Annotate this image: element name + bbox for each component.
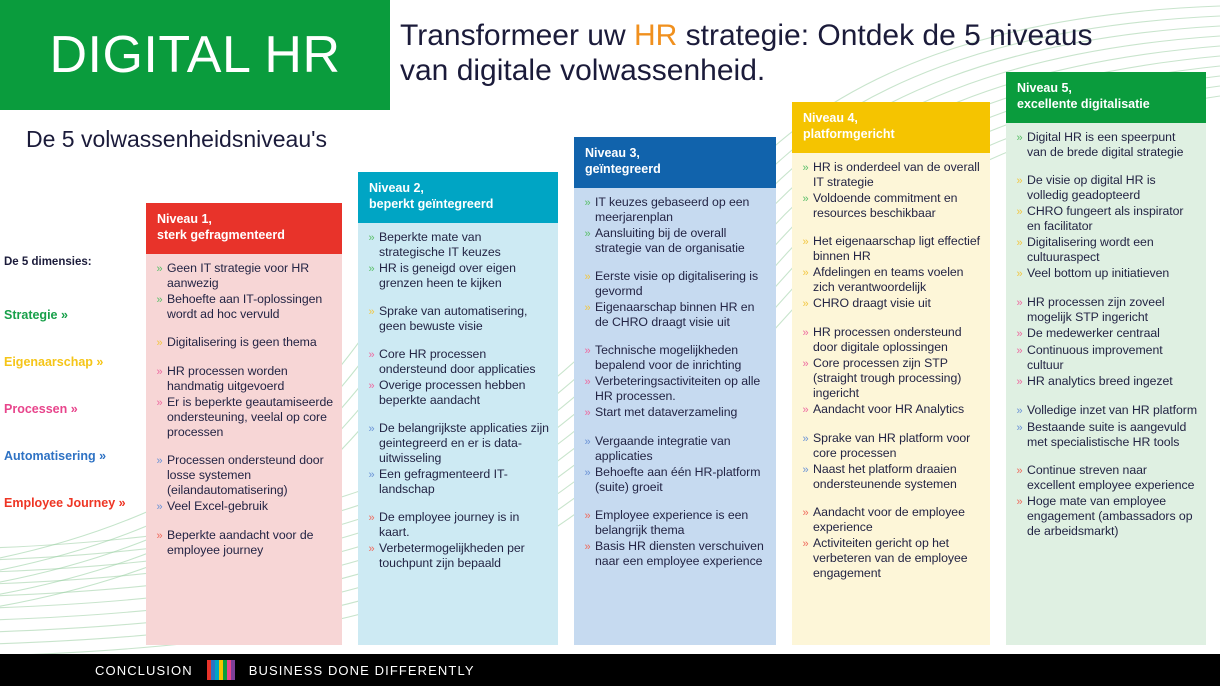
bullet-item: »Geen IT strategie voor HR aanwezig [152, 261, 334, 291]
bullet-item: »De visie op digital HR is volledig gead… [1012, 173, 1198, 203]
bullet-item: »Eerste visie op digitalisering is gevor… [580, 269, 768, 299]
level-column-1[interactable]: Niveau 1,sterk gefragmenteerd»Geen IT st… [146, 203, 342, 645]
bullet-text: Aansluiting bij de overall strategie van… [595, 226, 768, 256]
dimension-group-automatisering: »De belangrijkste applicaties zijn geint… [364, 421, 550, 497]
bullet-item: »Continuous improvement cultuur [1012, 343, 1198, 373]
chevron-double-right-icon: » [1012, 130, 1027, 146]
bullet-item: »Digitalisering is geen thema [152, 335, 334, 351]
chevron-double-right-icon: » [152, 335, 167, 351]
chevron-double-right-icon: » [1012, 463, 1027, 479]
bullet-text: Beperkte mate van strategische IT keuzes [379, 230, 550, 260]
bullet-text: Technische mogelijkheden bepalend voor d… [595, 343, 768, 373]
bullet-item: »Continue streven naar excellent employe… [1012, 463, 1198, 493]
bullet-text: HR processen ondersteund door digitale o… [813, 325, 982, 355]
bullet-text: Overige processen hebben beperkte aandac… [379, 378, 550, 408]
dimension-label-2[interactable]: Eigenaarschap » [4, 355, 152, 402]
bullet-text: Eerste visie op digitalisering is gevorm… [595, 269, 768, 299]
dimension-group-processen: »Core HR processen ondersteund door appl… [364, 347, 550, 408]
chevron-double-right-icon: » [364, 347, 379, 363]
bullet-item: »Het eigenaarschap ligt effectief binnen… [798, 234, 982, 264]
bullet-text: IT keuzes gebaseerd op een meerjarenplan [595, 195, 768, 225]
bullet-text: HR is geneigd over eigen grenzen heen te… [379, 261, 550, 291]
chevron-double-right-icon: » [580, 269, 595, 285]
chevron-double-right-icon: » [364, 261, 379, 277]
bullet-item: »De medewerker centraal [1012, 326, 1198, 342]
bullet-text: Verbetermogelijkheden per touchpunt zijn… [379, 541, 550, 571]
bullet-text: Employee experience is een belangrijk th… [595, 508, 768, 538]
bullet-text: Activiteiten gericht op het verbeteren v… [813, 536, 982, 581]
bullet-text: Sprake van HR platform voor core process… [813, 431, 982, 461]
chevron-double-right-icon: » [580, 434, 595, 450]
chevron-double-right-icon: » [1012, 403, 1027, 419]
chevron-double-right-icon: » [1012, 326, 1027, 342]
chevron-double-right-icon: » [798, 296, 813, 312]
headline-highlight: HR [634, 19, 677, 52]
bullet-text: HR processen zijn zoveel mogelijk STP in… [1027, 295, 1198, 325]
footer-stripe-logo [207, 660, 235, 680]
dimension-group-processen: »HR processen zijn zoveel mogelijk STP i… [1012, 295, 1198, 390]
bullet-item: »Behoefte aan IT-oplossingen wordt ad ho… [152, 292, 334, 322]
bullet-item: »Digitalisering wordt een cultuuraspect [1012, 235, 1198, 265]
level-header-2: Niveau 2,beperkt geïntegreerd [358, 172, 558, 223]
chevron-double-right-icon: » [798, 265, 813, 281]
dimension-group-employee-journey: »Beperkte aandacht voor de employee jour… [152, 528, 334, 558]
bullet-text: Digitalisering is geen thema [167, 335, 334, 350]
level-column-5[interactable]: Niveau 5,excellente digitalisatie»Digita… [1006, 72, 1206, 645]
bullet-item: »IT keuzes gebaseerd op een meerjarenpla… [580, 195, 768, 225]
chevron-double-right-icon: » [364, 467, 379, 483]
dimension-group-eigenaarschap: »Eerste visie op digitalisering is gevor… [580, 269, 768, 330]
brand-title: DIGITAL HR [49, 25, 340, 85]
brand-block: DIGITAL HR [0, 0, 390, 110]
dimension-label-4[interactable]: Automatisering » [4, 449, 152, 496]
chevron-double-right-icon: » [798, 505, 813, 521]
footer-bar: CONCLUSION BUSINESS DONE DIFFERENTLY [0, 654, 1220, 686]
headline-part-pre: Transformeer uw [400, 19, 634, 52]
chevron-double-right-icon: » [1012, 494, 1027, 510]
bullet-text: Bestaande suite is aangevuld met special… [1027, 420, 1198, 450]
bullet-item: »Processen ondersteund door losse system… [152, 453, 334, 498]
page-subtitle: De 5 volwassenheidsniveau's [26, 126, 327, 153]
chevron-double-right-icon: » [580, 343, 595, 359]
bullet-item: »Eigenaarschap binnen HR en de CHRO draa… [580, 300, 768, 330]
level-header-3: Niveau 3,geïntegreerd [574, 137, 776, 188]
bullet-item: »Veel bottom up initiatieven [1012, 266, 1198, 282]
bullet-text: Eigenaarschap binnen HR en de CHRO draag… [595, 300, 768, 330]
level-title-line2: excellente digitalisatie [1017, 97, 1195, 113]
stripe-bar-7 [231, 660, 235, 680]
dimension-group-processen: »HR processen worden handmatig uitgevoer… [152, 364, 334, 440]
level-title-line1: Niveau 1, [157, 212, 331, 228]
level-body-4: »HR is onderdeel van de overall IT strat… [792, 153, 990, 645]
chevron-double-right-icon: » [580, 195, 595, 211]
bullet-item: »Aansluiting bij de overall strategie va… [580, 226, 768, 256]
dimension-group-strategie: »HR is onderdeel van de overall IT strat… [798, 160, 982, 221]
dimension-group-processen: »Technische mogelijkheden bepalend voor … [580, 343, 768, 421]
chevron-double-right-icon: » [152, 261, 167, 277]
bullet-text: Hoge mate van employee engagement (ambas… [1027, 494, 1198, 539]
bullet-text: Veel bottom up initiatieven [1027, 266, 1198, 281]
level-body-3: »IT keuzes gebaseerd op een meerjarenpla… [574, 188, 776, 645]
chevron-double-right-icon: » [364, 510, 379, 526]
chevron-double-right-icon: » [364, 541, 379, 557]
level-column-3[interactable]: Niveau 3,geïntegreerd»IT keuzes gebaseer… [574, 137, 776, 645]
chevron-double-right-icon: » [1012, 295, 1027, 311]
bullet-text: Geen IT strategie voor HR aanwezig [167, 261, 334, 291]
level-header-4: Niveau 4,platformgericht [792, 102, 990, 153]
chevron-double-right-icon: » [1012, 266, 1027, 282]
bullet-item: »Sprake van HR platform voor core proces… [798, 431, 982, 461]
bullet-text: CHRO draagt visie uit [813, 296, 982, 311]
bullet-item: »Veel Excel-gebruik [152, 499, 334, 515]
chevron-double-right-icon: » [152, 292, 167, 308]
chevron-double-right-icon: » [364, 378, 379, 394]
bullet-item: »HR analytics breed ingezet [1012, 374, 1198, 390]
chevron-double-right-icon: » [152, 453, 167, 469]
bullet-text: De employee journey is in kaart. [379, 510, 550, 540]
bullet-text: Behoefte aan één HR-platform (suite) gro… [595, 465, 768, 495]
bullet-item: »Een gefragmenteerd IT-landschap [364, 467, 550, 497]
bullet-item: »Activiteiten gericht op het verbeteren … [798, 536, 982, 581]
level-title-line2: geïntegreerd [585, 162, 765, 178]
dimensions-rail: De 5 dimensies: Strategie »Eigenaarschap… [4, 256, 152, 543]
bullet-item: »Aandacht voor de employee experience [798, 505, 982, 535]
bullet-text: Digital HR is een speerpunt van de brede… [1027, 130, 1198, 160]
bullet-item: »Volledige inzet van HR platform [1012, 403, 1198, 419]
bullet-text: HR analytics breed ingezet [1027, 374, 1198, 389]
chevron-double-right-icon: » [798, 402, 813, 418]
dimension-group-employee-journey: »Employee experience is een belangrijk t… [580, 508, 768, 569]
chevron-double-right-icon: » [1012, 204, 1027, 220]
chevron-double-right-icon: » [580, 405, 595, 421]
bullet-item: »Beperkte mate van strategische IT keuze… [364, 230, 550, 260]
bullet-text: Continue streven naar excellent employee… [1027, 463, 1198, 493]
bullet-text: HR is onderdeel van de overall IT strate… [813, 160, 982, 190]
page-headline: Transformeer uw HR strategie: Ontdek de … [400, 18, 1100, 89]
bullet-text: Behoefte aan IT-oplossingen wordt ad hoc… [167, 292, 334, 322]
chevron-double-right-icon: » [798, 462, 813, 478]
dimension-label-1[interactable]: Strategie » [4, 308, 152, 355]
level-body-5: »Digital HR is een speerpunt van de bred… [1006, 123, 1206, 645]
chevron-double-right-icon: » [798, 356, 813, 372]
chevron-double-right-icon: » [798, 325, 813, 341]
bullet-text: Voldoende commitment en resources beschi… [813, 191, 982, 221]
level-column-4[interactable]: Niveau 4,platformgericht»HR is onderdeel… [792, 102, 990, 645]
bullet-text: De belangrijkste applicaties zijn geinte… [379, 421, 550, 466]
dimension-label-3[interactable]: Processen » [4, 402, 152, 449]
bullet-text: De medewerker centraal [1027, 326, 1198, 341]
chevron-double-right-icon: » [364, 421, 379, 437]
level-column-2[interactable]: Niveau 2,beperkt geïntegreerd»Beperkte m… [358, 172, 558, 645]
chevron-double-right-icon: » [580, 465, 595, 481]
bullet-item: »Sprake van automatisering, geen bewuste… [364, 304, 550, 334]
dimension-group-employee-journey: »Continue streven naar excellent employe… [1012, 463, 1198, 539]
slide-canvas: DIGITAL HR Transformeer uw HR strategie:… [0, 0, 1220, 686]
bullet-text: Processen ondersteund door losse systeme… [167, 453, 334, 498]
bullet-text: Verbeteringsactiviteiten op alle HR proc… [595, 374, 768, 404]
bullet-item: »HR processen ondersteund door digitale … [798, 325, 982, 355]
dimension-group-eigenaarschap: »Het eigenaarschap ligt effectief binnen… [798, 234, 982, 312]
bullet-text: HR processen worden handmatig uitgevoerd [167, 364, 334, 394]
bullet-item: »Core HR processen ondersteund door appl… [364, 347, 550, 377]
chevron-double-right-icon: » [1012, 343, 1027, 359]
bullet-text: Sprake van automatisering, geen bewuste … [379, 304, 550, 334]
bullet-text: Start met dataverzameling [595, 405, 768, 420]
bullet-text: Basis HR diensten verschuiven naar een e… [595, 539, 768, 569]
dimension-group-eigenaarschap: »Sprake van automatisering, geen bewuste… [364, 304, 550, 334]
bullet-item: »Aandacht voor HR Analytics [798, 402, 982, 418]
bullet-item: »Bestaande suite is aangevuld met specia… [1012, 420, 1198, 450]
level-title-line1: Niveau 2, [369, 181, 547, 197]
bullet-text: Naast het platform draaien ondersteunend… [813, 462, 982, 492]
bullet-item: »Verbeteringsactiviteiten op alle HR pro… [580, 374, 768, 404]
bullet-item: »Digital HR is een speerpunt van de bred… [1012, 130, 1198, 160]
dimension-group-automatisering: »Sprake van HR platform voor core proces… [798, 431, 982, 492]
chevron-double-right-icon: » [580, 226, 595, 242]
chevron-double-right-icon: » [580, 374, 595, 390]
footer-tagline: BUSINESS DONE DIFFERENTLY [249, 663, 475, 678]
bullet-item: »Technische mogelijkheden bepalend voor … [580, 343, 768, 373]
dimensions-list: Strategie »Eigenaarschap »Processen »Aut… [4, 308, 152, 543]
dimension-group-eigenaarschap: »De visie op digital HR is volledig gead… [1012, 173, 1198, 282]
bullet-text: Digitalisering wordt een cultuuraspect [1027, 235, 1198, 265]
bullet-text: Aandacht voor de employee experience [813, 505, 982, 535]
bullet-item: »De belangrijkste applicaties zijn geint… [364, 421, 550, 466]
dimension-group-automatisering: »Vergaande integratie van applicaties»Be… [580, 434, 768, 495]
bullet-item: »Er is beperkte geautamiseerde ondersteu… [152, 395, 334, 440]
chevron-double-right-icon: » [152, 364, 167, 380]
bullet-text: Het eigenaarschap ligt effectief binnen … [813, 234, 982, 264]
dimension-group-strategie: »IT keuzes gebaseerd op een meerjarenpla… [580, 195, 768, 256]
bullet-item: »HR processen zijn zoveel mogelijk STP i… [1012, 295, 1198, 325]
dimension-group-eigenaarschap: »Digitalisering is geen thema [152, 335, 334, 351]
chevron-double-right-icon: » [152, 499, 167, 515]
dimension-group-automatisering: »Processen ondersteund door losse system… [152, 453, 334, 515]
level-title-line1: Niveau 4, [803, 111, 979, 127]
chevron-double-right-icon: » [364, 230, 379, 246]
dimension-group-strategie: »Digital HR is een speerpunt van de bred… [1012, 130, 1198, 160]
bullet-item: »HR is onderdeel van de overall IT strat… [798, 160, 982, 190]
bullet-item: »De employee journey is in kaart. [364, 510, 550, 540]
bullet-text: Core HR processen ondersteund door appli… [379, 347, 550, 377]
bullet-text: Core processen zijn STP (straight trough… [813, 356, 982, 401]
bullet-text: Veel Excel-gebruik [167, 499, 334, 514]
level-title-line2: sterk gefragmenteerd [157, 228, 331, 244]
dimension-group-strategie: »Geen IT strategie voor HR aanwezig»Beho… [152, 261, 334, 322]
chevron-double-right-icon: » [152, 528, 167, 544]
dimension-label-5[interactable]: Employee Journey » [4, 496, 152, 543]
chevron-double-right-icon: » [364, 304, 379, 320]
chevron-double-right-icon: » [798, 431, 813, 447]
bullet-text: De visie op digital HR is volledig geado… [1027, 173, 1198, 203]
bullet-item: »Hoge mate van employee engagement (amba… [1012, 494, 1198, 539]
chevron-double-right-icon: » [580, 539, 595, 555]
chevron-double-right-icon: » [1012, 420, 1027, 436]
bullet-item: »CHRO fungeert als inspirator en facilit… [1012, 204, 1198, 234]
dimension-group-employee-journey: »Aandacht voor de employee experience»Ac… [798, 505, 982, 581]
footer-brand-label: CONCLUSION [95, 663, 193, 678]
bullet-item: »HR processen worden handmatig uitgevoer… [152, 364, 334, 394]
level-body-1: »Geen IT strategie voor HR aanwezig»Beho… [146, 254, 342, 645]
chevron-double-right-icon: » [798, 536, 813, 552]
bullet-item: »Naast het platform draaien ondersteunen… [798, 462, 982, 492]
chevron-double-right-icon: » [798, 191, 813, 207]
bullet-item: »Afdelingen en teams voelen zich verantw… [798, 265, 982, 295]
dimension-group-employee-journey: »De employee journey is in kaart.»Verbet… [364, 510, 550, 571]
bullet-text: Volledige inzet van HR platform [1027, 403, 1198, 418]
chevron-double-right-icon: » [798, 160, 813, 176]
level-title-line2: beperkt geïntegreerd [369, 197, 547, 213]
dimensions-heading: De 5 dimensies: [4, 256, 152, 308]
bullet-item: »Behoefte aan één HR-platform (suite) gr… [580, 465, 768, 495]
bullet-item: »Start met dataverzameling [580, 405, 768, 421]
bullet-text: CHRO fungeert als inspirator en facilita… [1027, 204, 1198, 234]
bullet-text: Er is beperkte geautamiseerde ondersteun… [167, 395, 334, 440]
bullet-text: Beperkte aandacht voor de employee journ… [167, 528, 334, 558]
chevron-double-right-icon: » [152, 395, 167, 411]
bullet-item: »CHRO draagt visie uit [798, 296, 982, 312]
chevron-double-right-icon: » [798, 234, 813, 250]
bullet-item: »Verbetermogelijkheden per touchpunt zij… [364, 541, 550, 571]
bullet-text: Een gefragmenteerd IT-landschap [379, 467, 550, 497]
chevron-double-right-icon: » [1012, 374, 1027, 390]
bullet-text: Vergaande integratie van applicaties [595, 434, 768, 464]
dimension-group-automatisering: »Volledige inzet van HR platform»Bestaan… [1012, 403, 1198, 450]
level-title-line2: platformgericht [803, 127, 979, 143]
chevron-double-right-icon: » [1012, 235, 1027, 251]
bullet-item: »Basis HR diensten verschuiven naar een … [580, 539, 768, 569]
bullet-item: »Employee experience is een belangrijk t… [580, 508, 768, 538]
bullet-item: »Overige processen hebben beperkte aanda… [364, 378, 550, 408]
dimension-group-processen: »HR processen ondersteund door digitale … [798, 325, 982, 418]
bullet-item: »Beperkte aandacht voor de employee jour… [152, 528, 334, 558]
bullet-item: »HR is geneigd over eigen grenzen heen t… [364, 261, 550, 291]
level-body-2: »Beperkte mate van strategische IT keuze… [358, 223, 558, 645]
bullet-item: »Voldoende commitment en resources besch… [798, 191, 982, 221]
bullet-text: Continuous improvement cultuur [1027, 343, 1198, 373]
chevron-double-right-icon: » [580, 300, 595, 316]
bullet-text: Afdelingen en teams voelen zich verantwo… [813, 265, 982, 295]
chevron-double-right-icon: » [580, 508, 595, 524]
chevron-double-right-icon: » [1012, 173, 1027, 189]
level-header-1: Niveau 1,sterk gefragmenteerd [146, 203, 342, 254]
bullet-item: »Vergaande integratie van applicaties [580, 434, 768, 464]
level-title-line1: Niveau 3, [585, 146, 765, 162]
bullet-item: »Core processen zijn STP (straight troug… [798, 356, 982, 401]
bullet-text: Aandacht voor HR Analytics [813, 402, 982, 417]
dimension-group-strategie: »Beperkte mate van strategische IT keuze… [364, 230, 550, 291]
